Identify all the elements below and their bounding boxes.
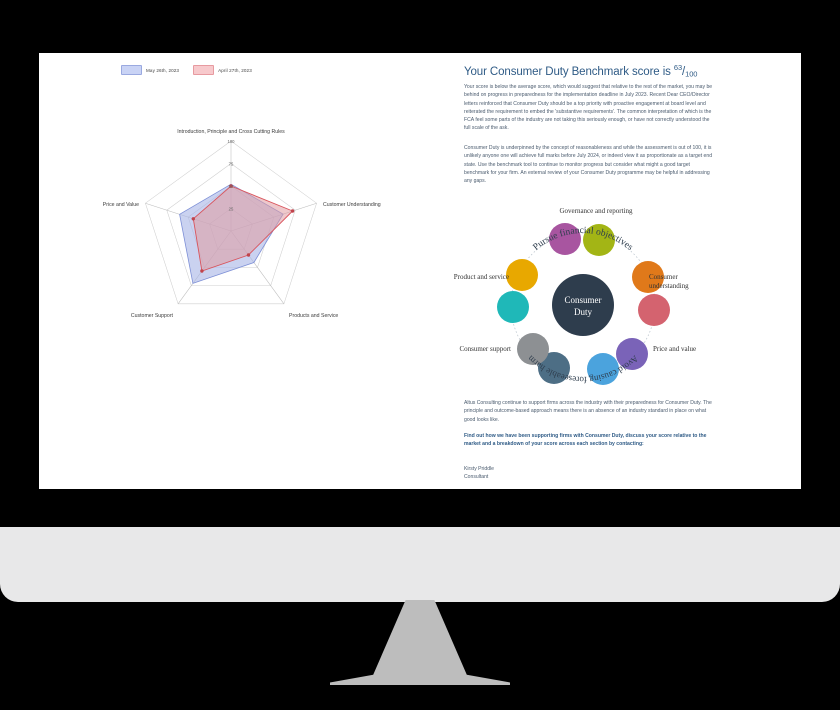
svg-text:50: 50 [229, 184, 234, 189]
radar-chart-svg: 100 75 50 25 Introduction, Principle and… [61, 113, 401, 343]
monitor-bezel [0, 527, 840, 602]
wheel-label-product-and-service: Product and service [447, 273, 509, 282]
contact-signature: Kirsty Priddle Consultant [464, 465, 494, 482]
radar-label-price-and-value: Price and Value [103, 202, 139, 208]
node-teal [497, 291, 529, 323]
wheel-label-governance: Governance and reporting [551, 207, 641, 216]
contact-role: Consultant [464, 473, 494, 481]
badge-line1: THE CONSUMER [799, 55, 801, 57]
legend-swatch-april [193, 65, 214, 75]
radar-label-introduction: Introduction, Principle and Cross Cuttin… [177, 129, 285, 135]
footer-call-to-action: Find out how we have been supporting fir… [464, 432, 714, 449]
legend-item-april[interactable]: April 27th, 2023 [193, 65, 252, 75]
paragraph-2: Consumer Duty is underpinned by the conc… [464, 144, 714, 185]
screenshot-root: May 26th, 2023 April 27th, 2023 [0, 0, 840, 710]
report-content-panel: THE CONSUMER DUTY ALLIANCE ■■■ AFFILIATE… [425, 53, 801, 489]
contact-name: Kirsty Priddle [464, 465, 494, 473]
node-gold [506, 259, 538, 291]
radar-label-products-and-service: Products and Service [289, 313, 338, 319]
radar-chart-panel: May 26th, 2023 April 27th, 2023 [39, 53, 419, 489]
page-title-prefix: Your Consumer Duty Benchmark score is [464, 66, 674, 78]
wheel-hub [552, 274, 614, 336]
wheel-hub-line1: Consumer [565, 295, 602, 305]
badge-affiliate-label: AFFILIATE [799, 84, 801, 88]
legend-swatch-may [121, 65, 142, 75]
footer-paragraph: Altus Consulting continue to support fir… [464, 399, 714, 424]
consumer-duty-wheel: Pursue financial objectives Avoid causin… [443, 205, 723, 395]
legend-label-may: May 26th, 2023 [146, 68, 179, 73]
page-title: Your Consumer Duty Benchmark score is 63… [464, 63, 697, 78]
wheel-label-price-and-value: Price and value [653, 345, 713, 354]
document-page: May 26th, 2023 April 27th, 2023 [39, 53, 801, 489]
legend-label-april: April 27th, 2023 [218, 68, 252, 73]
wheel-label-consumer-support: Consumer support [439, 345, 511, 354]
svg-text:75: 75 [229, 162, 234, 167]
wheel-svg: Pursue financial objectives Avoid causin… [443, 205, 723, 390]
legend-item-may[interactable]: May 26th, 2023 [121, 65, 179, 75]
wheel-label-consumer-understanding: Consumer understanding [649, 273, 719, 292]
node-rose [638, 294, 670, 326]
svg-text:100: 100 [228, 139, 236, 144]
badge-line2: DUTY ALLIANCE [799, 58, 801, 62]
score-max: 100 [685, 69, 697, 78]
svg-text:25: 25 [229, 207, 234, 212]
people-icon: ■■■ [799, 64, 801, 71]
score-value: 63 [674, 63, 682, 72]
radar-label-customer-support: Customer Support [131, 313, 174, 319]
paragraph-1: Your score is below the average score, w… [464, 83, 714, 133]
monitor-stand [330, 600, 510, 685]
radar-legend: May 26th, 2023 April 27th, 2023 [121, 65, 252, 75]
radar-label-customer-understanding: Customer Understanding [323, 202, 381, 208]
consumer-duty-alliance-badge: THE CONSUMER DUTY ALLIANCE ■■■ AFFILIATE [799, 53, 801, 99]
wheel-hub-line2: Duty [574, 307, 593, 317]
